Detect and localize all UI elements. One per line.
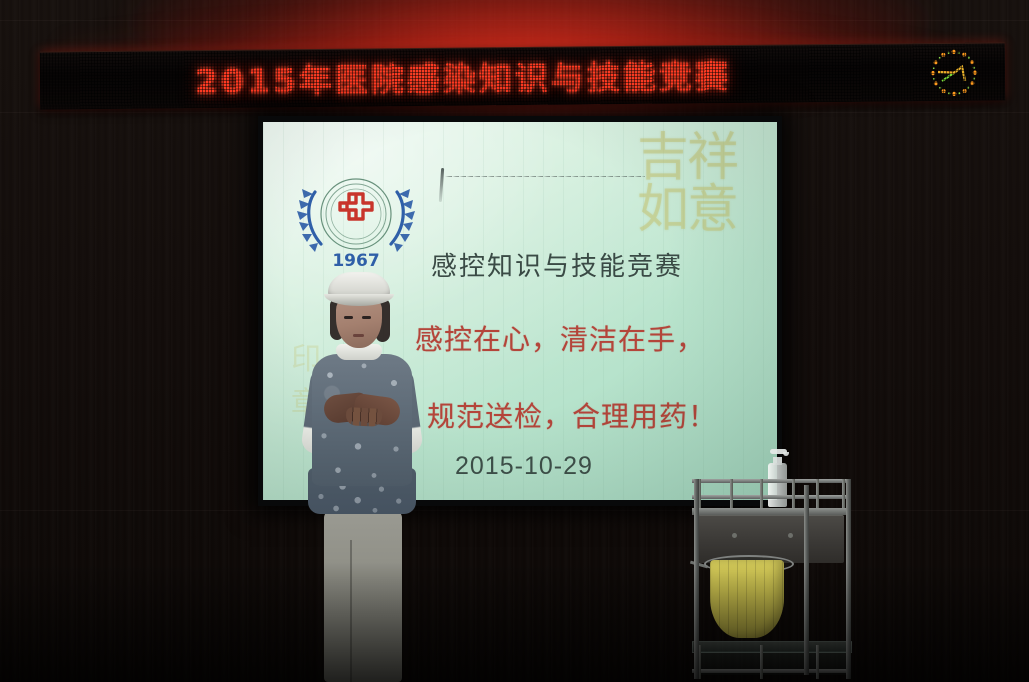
slide-stroke-mark [439,168,444,202]
trolley-top-plate [692,508,850,515]
wall-seam [0,112,1029,113]
trolley-rail-upright [792,479,795,509]
slide-date: 2015-10-29 [455,452,593,481]
hospital-emblem-icon: 1967 [297,166,415,270]
led-clock-icon [929,48,979,98]
nurse-eye-right [362,316,371,319]
wall-seam [0,510,1029,511]
led-banner-title: 2015年医院感染知识与技能竞赛 [195,50,731,103]
slide-slogan-line-2: 规范送检，合理用药！ [427,395,717,435]
interlocked-fingers [346,407,383,427]
sanitizer-pump-icon [770,449,787,454]
trolley-rail-upright [730,479,733,509]
decorative-calligraphy: 吉祥 如意 [637,132,767,240]
nurse-eye-left [344,316,353,319]
clock-second-hand [942,73,954,81]
trolley-top-rail-lower [692,495,850,499]
trolley-rail-upright [816,479,819,509]
nurse-mouth [353,334,364,337]
floor-shadow [0,562,1029,682]
slide-slogan-line-1: 感控在心，清洁在手， [415,318,705,358]
emblem-year: 1967 [332,251,379,270]
trolley-top-rail [692,479,850,483]
trolley-rail-upright [760,479,763,509]
trolley-drawer-knob[interactable] [732,533,737,538]
led-banner: 2015年医院感染知识与技能竞赛 [40,42,1006,109]
clock-hour-hand [938,67,965,81]
hand-sanitizer-dispenser [768,463,787,507]
slide-dashed-rule [445,176,645,178]
slide-heading: 感控知识与技能竞赛 [431,246,683,283]
trolley-drawer-knob[interactable] [788,533,793,538]
trolley-rail-upright [842,479,845,509]
stage-photo: 2015年医院感染知识与技能竞赛 [0,0,1029,682]
